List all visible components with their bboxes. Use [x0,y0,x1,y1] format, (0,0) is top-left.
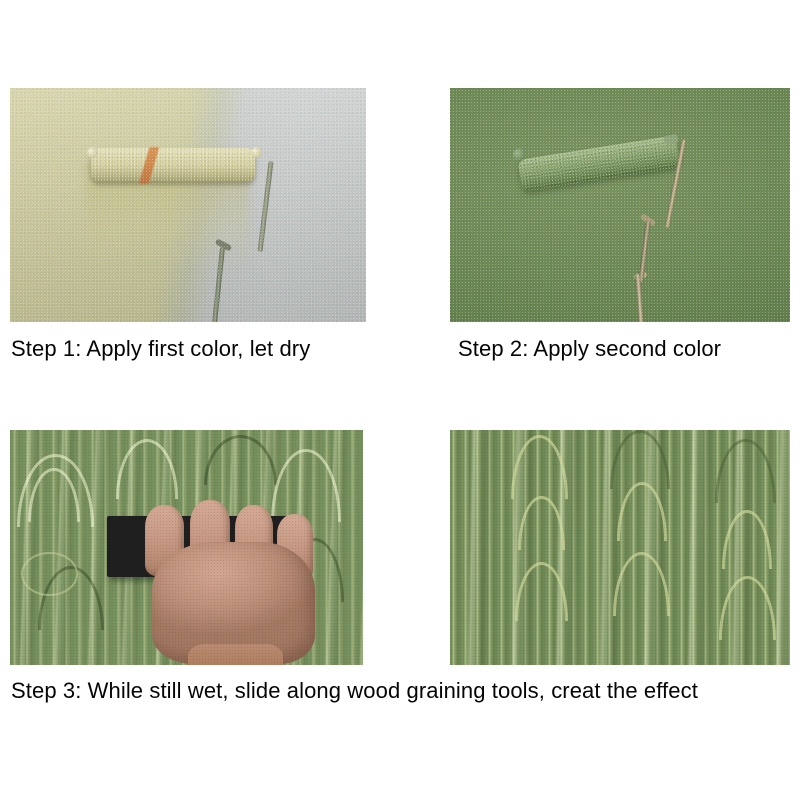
step-2-image [450,88,790,322]
wrist [188,644,283,665]
step-3-image [10,430,363,665]
tutorial-sheet: Step 1: Apply first color, let dry Step … [0,0,800,800]
step-3-photo [10,430,363,665]
roller-end-cap-left [87,147,98,158]
step-2-caption: Step 2: Apply second color [458,336,721,362]
paint-roller-sleeve [91,148,255,182]
hand [141,505,339,665]
step-1-caption: Step 1: Apply first color, let dry [11,336,310,362]
step-1-image [10,88,366,322]
roller-end-cap-right [251,147,262,158]
step-3-result-photo [450,430,790,665]
wall-green [450,88,790,322]
step-3-result-image [450,430,790,665]
step-2-photo [450,88,790,322]
grain-knot [21,552,78,596]
step-3-caption: Step 3: While still wet, slide along woo… [11,678,698,704]
step-1-photo [10,88,366,322]
